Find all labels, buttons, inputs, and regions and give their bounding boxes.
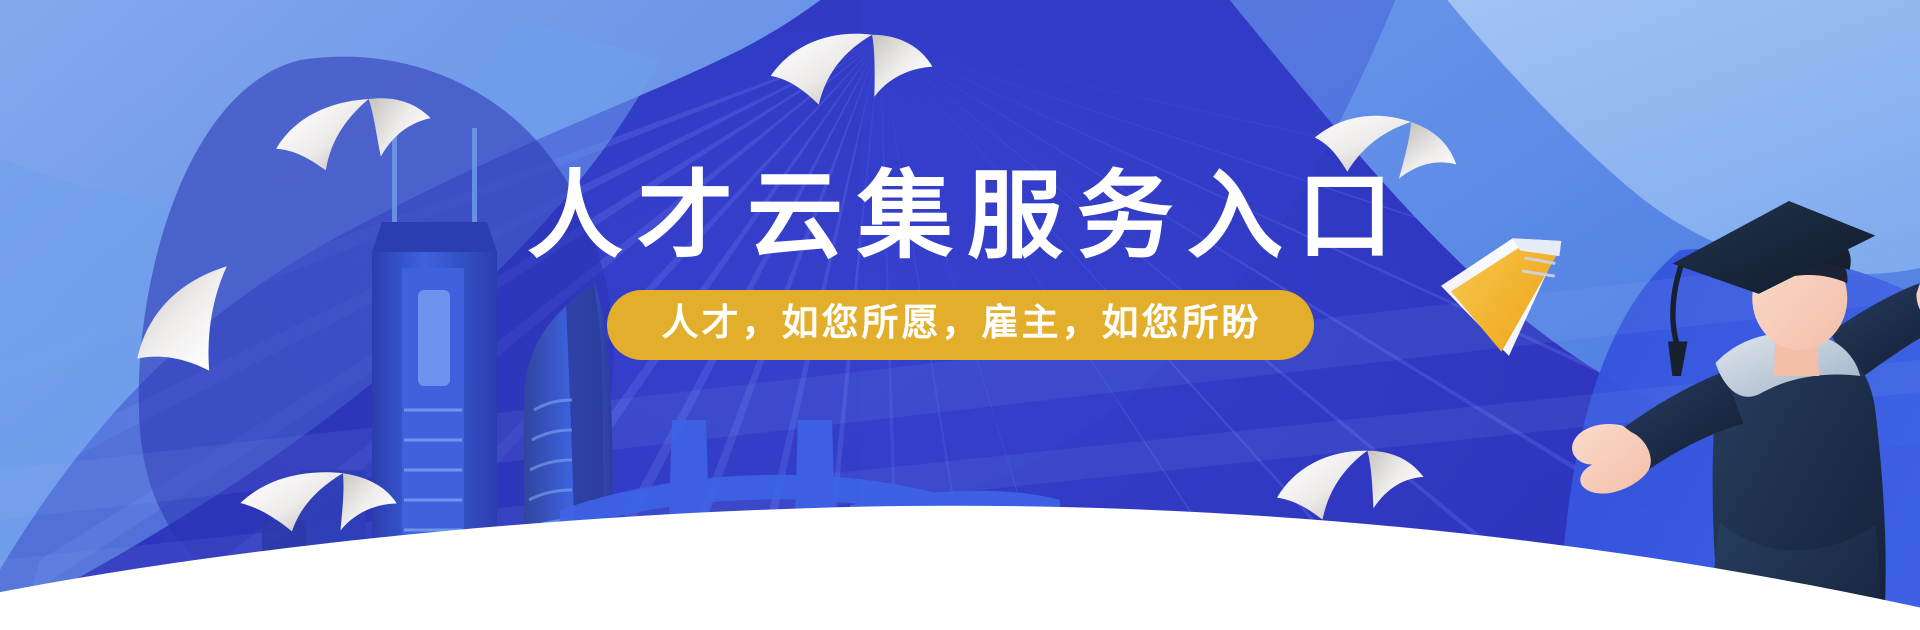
tower-main-window-block [418, 290, 450, 386]
tower-main-crown [372, 222, 497, 252]
subtitle-badge[interactable]: 人才，如您所愿，雇主，如您所盼 [607, 290, 1314, 360]
hero-banner: 人才云集服务入口 人才，如您所愿，雇主，如您所盼 [0, 0, 1920, 630]
